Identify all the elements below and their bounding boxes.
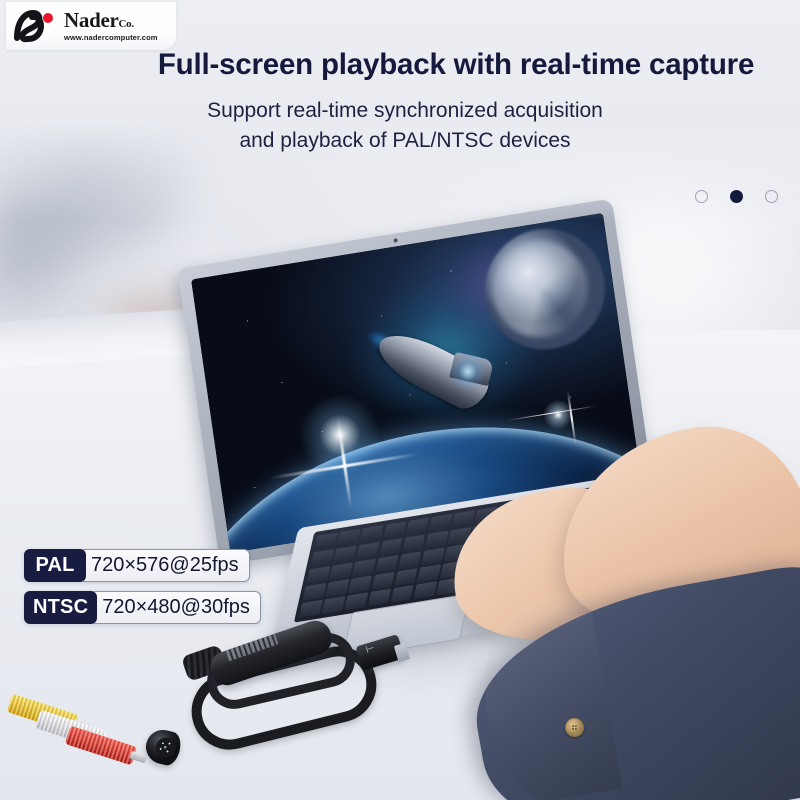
spec-standard-label: NTSC [24,591,97,624]
spec-badge-ntsc: NTSC 720×480@30fps [24,591,261,624]
brand-suffix: Co. [119,18,134,30]
carousel-dot-2-active[interactable] [730,190,743,203]
page-subtitle: Support real-time synchronized acquisiti… [0,96,800,156]
promo-banner-image: ⊢ PAL 720×576@25fps NTSC 720×480@30fps N… [0,0,800,800]
spec-standard-label: PAL [24,549,86,582]
subtitle-line-1: Support real-time synchronized acquisiti… [28,96,782,126]
spec-value-label: 720×576@25fps [83,549,250,582]
carousel-pagination[interactable] [695,190,778,203]
spec-value-label: 720×480@30fps [94,591,261,624]
brand-name: NaderCo. [64,10,156,31]
page-title: Full-screen playback with real-time capt… [0,48,800,82]
spec-badge-list: PAL 720×576@25fps NTSC 720×480@30fps [24,549,261,624]
brand-wordmark: NaderCo. www.nadercomputer.com [64,10,156,41]
subtitle-line-2: and playback of PAL/NTSC devices [28,126,782,156]
carousel-dot-1[interactable] [695,190,708,203]
webcam-icon [393,238,398,243]
brand-logo[interactable]: NaderCo. www.nadercomputer.com [6,2,176,50]
spec-badge-pal: PAL 720×576@25fps [24,549,261,582]
carousel-dot-3[interactable] [765,190,778,203]
nader-monogram-icon [14,9,58,43]
jacket-button [565,718,584,737]
brand-url: www.nadercomputer.com [64,34,158,41]
